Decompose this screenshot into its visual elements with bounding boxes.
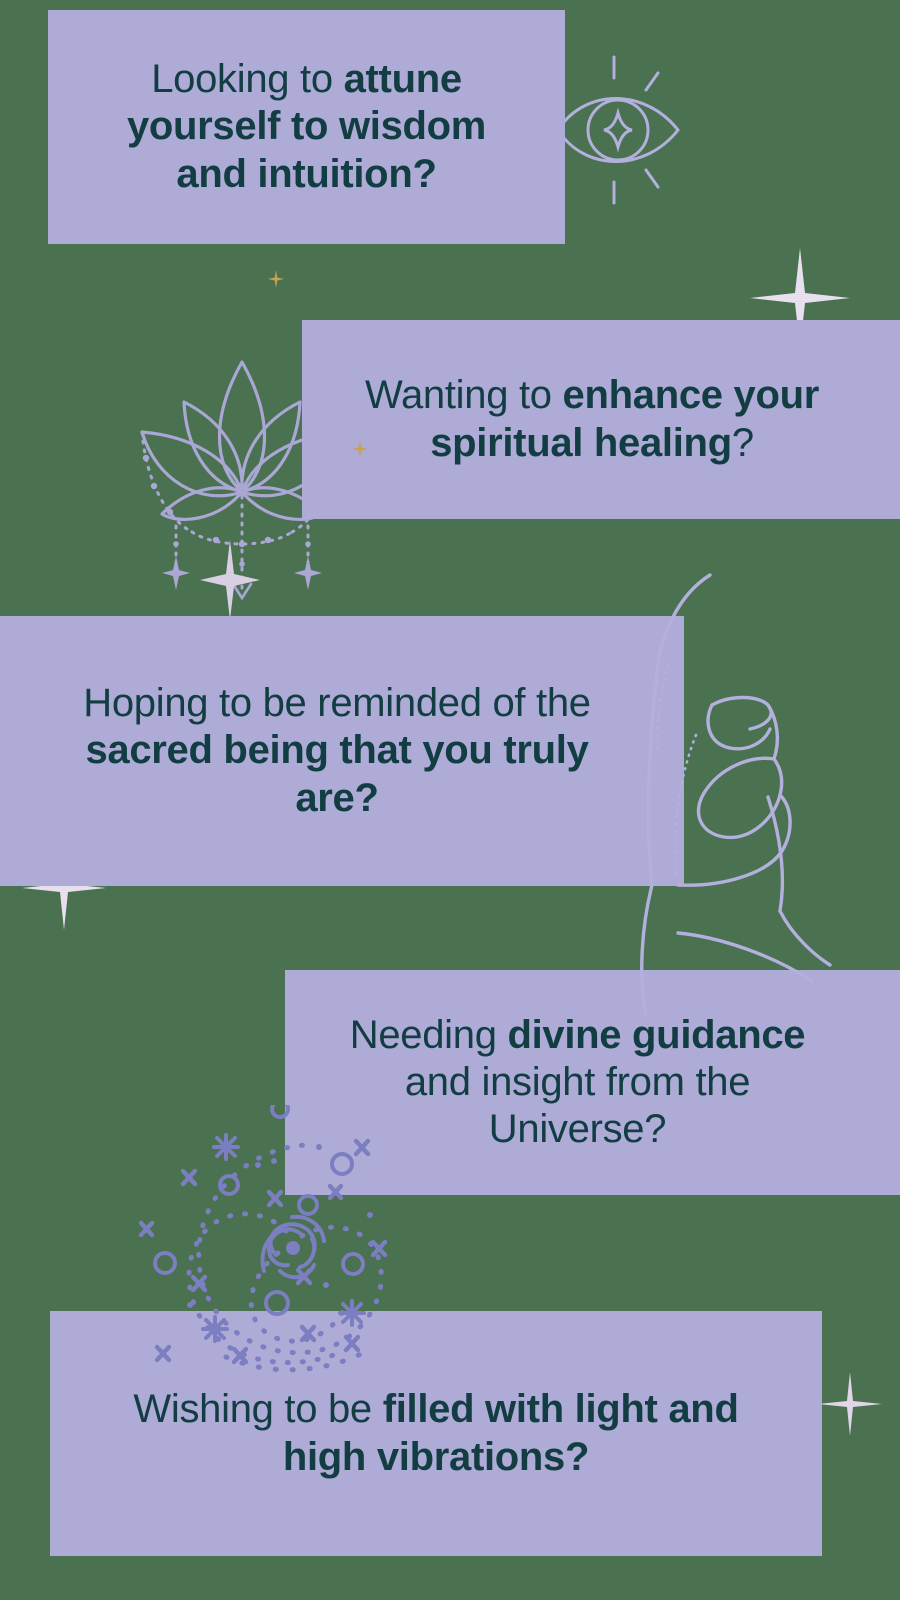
message-panel-5: Wishing to be filled with light and high… [50,1311,822,1556]
panel-2-text: Wanting to enhance your spiritual healin… [322,372,880,466]
all-seeing-eye-icon [540,40,720,220]
message-panel-2: Wanting to enhance your spiritual healin… [302,320,900,519]
poster-canvas: Looking to attune yourself to wisdom and… [0,0,900,1600]
panel-1-text: Looking to attune yourself to wisdom and… [107,56,507,198]
message-panel-4: Needing divine guidance and insight from… [285,970,900,1195]
message-panel-3: Hoping to be reminded of the sacred bein… [0,616,684,886]
four-point-star-icon [268,270,284,288]
message-panel-1: Looking to attune yourself to wisdom and… [48,10,565,244]
four-point-star-icon [818,1372,882,1436]
panel-5-text: Wishing to be filled with light and high… [96,1386,776,1480]
panel-4-text: Needing divine guidance and insight from… [313,1012,873,1154]
panel-3-text: Hoping to be reminded of the sacred bein… [72,680,612,822]
four-point-star-icon [200,540,260,620]
